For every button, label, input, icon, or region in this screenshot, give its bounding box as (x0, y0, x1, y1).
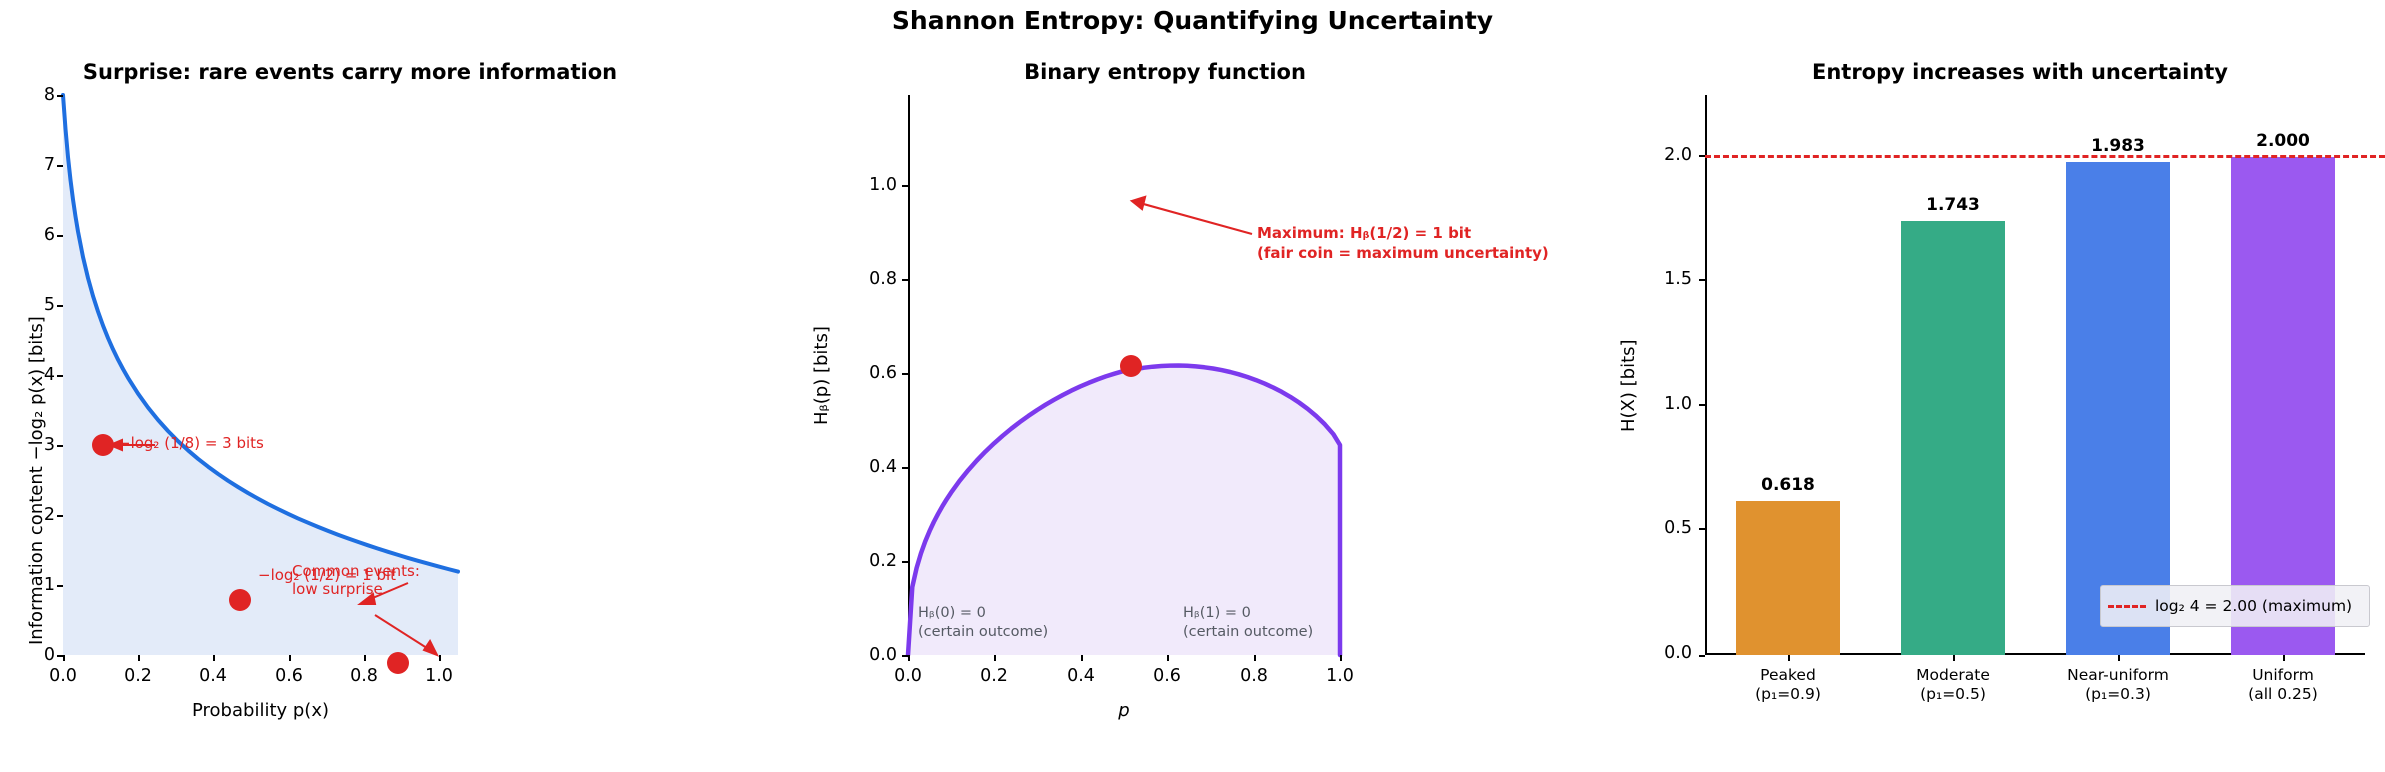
panel1-ytickmark-8 (57, 95, 63, 97)
panel2-ytick-0_4: 0.4 (845, 457, 897, 477)
category-label-near-uniform: Near-uniform (p₁=0.3) (2038, 666, 2198, 705)
panel2-marker-max (1120, 355, 1142, 377)
panel2-xtick-3: 0.6 (1137, 666, 1197, 686)
panel2-ytick-0_2: 0.2 (845, 551, 897, 571)
category-label-near-uniform-line2: (p₁=0.3) (2038, 685, 2198, 704)
panel1-ytick-8: 8 (20, 85, 55, 105)
panel1-ytick-4: 4 (20, 365, 55, 385)
panel3-ytickmark-1_5 (1699, 279, 1705, 281)
panel3-xtickmark-0 (1788, 655, 1790, 661)
panel3-legend[interactable]: log₂ 4 = 2.00 (maximum) (2100, 585, 2370, 627)
category-label-moderate: Moderate (p₁=0.5) (1873, 666, 2033, 705)
panel2-xtickmark-3 (1167, 655, 1169, 661)
panel2-xtickmark-4 (1254, 655, 1256, 661)
bar-value-near-uniform: 1.983 (2066, 136, 2170, 156)
bar-value-uniform: 2.000 (2231, 131, 2335, 151)
panel1-xtickmark-1 (138, 655, 140, 661)
panel2-ytickmark-0_2 (902, 561, 908, 563)
panel2-xlabel: p (908, 700, 1340, 721)
panel3-ytickmark-1_0 (1699, 404, 1705, 406)
panel2-anno-hb0-line2: (certain outcome) (918, 624, 1048, 642)
panel1-xtick-1: 0.2 (108, 666, 168, 686)
category-label-peaked-line2: (p₁=0.9) (1708, 685, 1868, 704)
panel2-ytick-0_8: 0.8 (845, 269, 897, 289)
panel3-ytickmark-0_5 (1699, 528, 1705, 530)
panel3-ylabel: H(X) [bits] (1618, 339, 1639, 432)
bar-value-peaked: 0.618 (1736, 475, 1840, 495)
category-label-moderate-line1: Moderate (1873, 666, 2033, 685)
panel1-xtickmark-3 (289, 655, 291, 661)
panel1-ytick-2: 2 (20, 505, 55, 525)
panel1-xtickmark-2 (213, 655, 215, 661)
panel2-ytickmark-1_0 (902, 185, 908, 187)
panel2-xtick-4: 0.8 (1224, 666, 1284, 686)
panel1-xtick-4: 0.8 (334, 666, 394, 686)
panel3-ytickmark-0_0 (1699, 655, 1705, 657)
panel1-ytickmark-2 (57, 515, 63, 517)
panel1-ytick-6: 6 (20, 225, 55, 245)
panel2-anno-maximum-line2: (fair coin = maximum uncertainty) (1257, 245, 1549, 263)
panel2-ytickmark-0_4 (902, 467, 908, 469)
panel3-ytick-0_0: 0.0 (1640, 643, 1692, 663)
bar-uniform[interactable] (2231, 157, 2335, 655)
panel2-xtick-1: 0.2 (964, 666, 1024, 686)
panel1-ytick-1: 1 (20, 575, 55, 595)
category-label-moderate-line2: (p₁=0.5) (1873, 685, 2033, 704)
max-entropy-line (1705, 155, 2385, 158)
panel3-title: Entropy increases with uncertainty (1690, 60, 2350, 84)
panel2-ytick-0_0: 0.0 (845, 645, 897, 665)
panel1-anno-common-line1: Common events: (292, 563, 420, 581)
category-label-uniform-line1: Uniform (2203, 666, 2363, 685)
panel1-ytick-0: 0 (20, 645, 55, 665)
panel-binary-entropy: Binary entropy function Hᵦ(p) [bits] Max… (795, 0, 1595, 772)
bar-near-uniform[interactable] (2066, 162, 2170, 655)
panel1-marker-1-8 (92, 434, 114, 456)
figure-root: Shannon Entropy: Quantifying Uncertainty… (0, 0, 2385, 772)
panel1-ytickmark-3 (57, 445, 63, 447)
panel1-ytickmark-4 (57, 375, 63, 377)
panel1-xlabel: Probability p(x) (63, 700, 458, 721)
panel3-ytickmark-2_0 (1699, 155, 1705, 157)
panel1-xtick-2: 0.4 (183, 666, 243, 686)
panel3-ytick-1_0: 1.0 (1640, 394, 1692, 414)
panel2-xtickmark-1 (994, 655, 996, 661)
category-label-uniform-line2: (all 0.25) (2203, 685, 2363, 704)
panel1-ytickmark-5 (57, 305, 63, 307)
panel1-ytickmark-6 (57, 235, 63, 237)
panel1-xtick-5: 1.0 (409, 666, 469, 686)
panel2-anno-maximum-line1: Maximum: Hᵦ(1/2) = 1 bit (1257, 225, 1471, 243)
panel2-ytick-1_0: 1.0 (845, 175, 897, 195)
panel2-anno-hb0-line1: Hᵦ(0) = 0 (918, 605, 986, 623)
panel3-ytick-1_5: 1.5 (1640, 269, 1692, 289)
legend-label-max: log₂ 4 = 2.00 (maximum) (2155, 597, 2352, 615)
category-label-near-uniform-line1: Near-uniform (2038, 666, 2198, 685)
panel3-xtickmark-2 (2118, 655, 2120, 661)
panel1-ytickmark-7 (57, 165, 63, 167)
panel-surprise: Surprise: rare events carry more informa… (0, 0, 800, 772)
panel1-anno-3bits: −log₂ (1/8) = 3 bits (118, 435, 264, 453)
category-label-peaked-line1: Peaked (1708, 666, 1868, 685)
panel1-ytickmark-1 (57, 585, 63, 587)
legend-dashed-line-icon (2108, 605, 2146, 608)
panel2-xtickmark-2 (1081, 655, 1083, 661)
panel2-ytickmark-0_6 (902, 373, 908, 375)
panel2-ytick-0_6: 0.6 (845, 363, 897, 383)
panel1-ytick-3: 3 (20, 435, 55, 455)
panel2-ytickmark-0_8 (902, 279, 908, 281)
panel3-xtickmark-3 (2283, 655, 2285, 661)
panel2-xtickmark-5 (1340, 655, 1342, 661)
panel1-xtickmark-4 (364, 655, 366, 661)
panel1-ytick-7: 7 (20, 155, 55, 175)
panel-entropy-bars: Entropy increases with uncertainty H(X) … (1590, 0, 2385, 772)
panel2-xtick-5: 1.0 (1310, 666, 1370, 686)
bar-peaked[interactable] (1736, 501, 1840, 655)
panel1-ytick-5: 5 (20, 295, 55, 315)
category-label-uniform: Uniform (all 0.25) (2203, 666, 2363, 705)
bar-moderate[interactable] (1901, 221, 2005, 655)
panel3-ytick-0_5: 0.5 (1640, 518, 1692, 538)
panel1-xtickmark-0 (63, 655, 65, 661)
category-label-peaked: Peaked (p₁=0.9) (1708, 666, 1868, 705)
panel1-xtick-3: 0.6 (259, 666, 319, 686)
panel2-xtick-2: 0.4 (1051, 666, 1111, 686)
bar-value-moderate: 1.743 (1901, 195, 2005, 215)
panel2-anno-hb1-line1: Hᵦ(1) = 0 (1183, 605, 1251, 623)
panel2-arrow-max (1132, 197, 1252, 234)
panel2-xtickmark-0 (908, 655, 910, 661)
panel1-anno-common-line2: low surprise (292, 581, 383, 599)
panel3-ytick-2_0: 2.0 (1640, 145, 1692, 165)
panel2-xtick-0: 0.0 (878, 666, 938, 686)
panel3-xtickmark-1 (1953, 655, 1955, 661)
panel1-xtickmark-5 (439, 655, 441, 661)
panel2-anno-hb1-line2: (certain outcome) (1183, 624, 1313, 642)
panel2-plot (795, 0, 1595, 772)
panel1-xtick-0: 0.0 (33, 666, 93, 686)
panel1-marker-1-2 (229, 589, 251, 611)
